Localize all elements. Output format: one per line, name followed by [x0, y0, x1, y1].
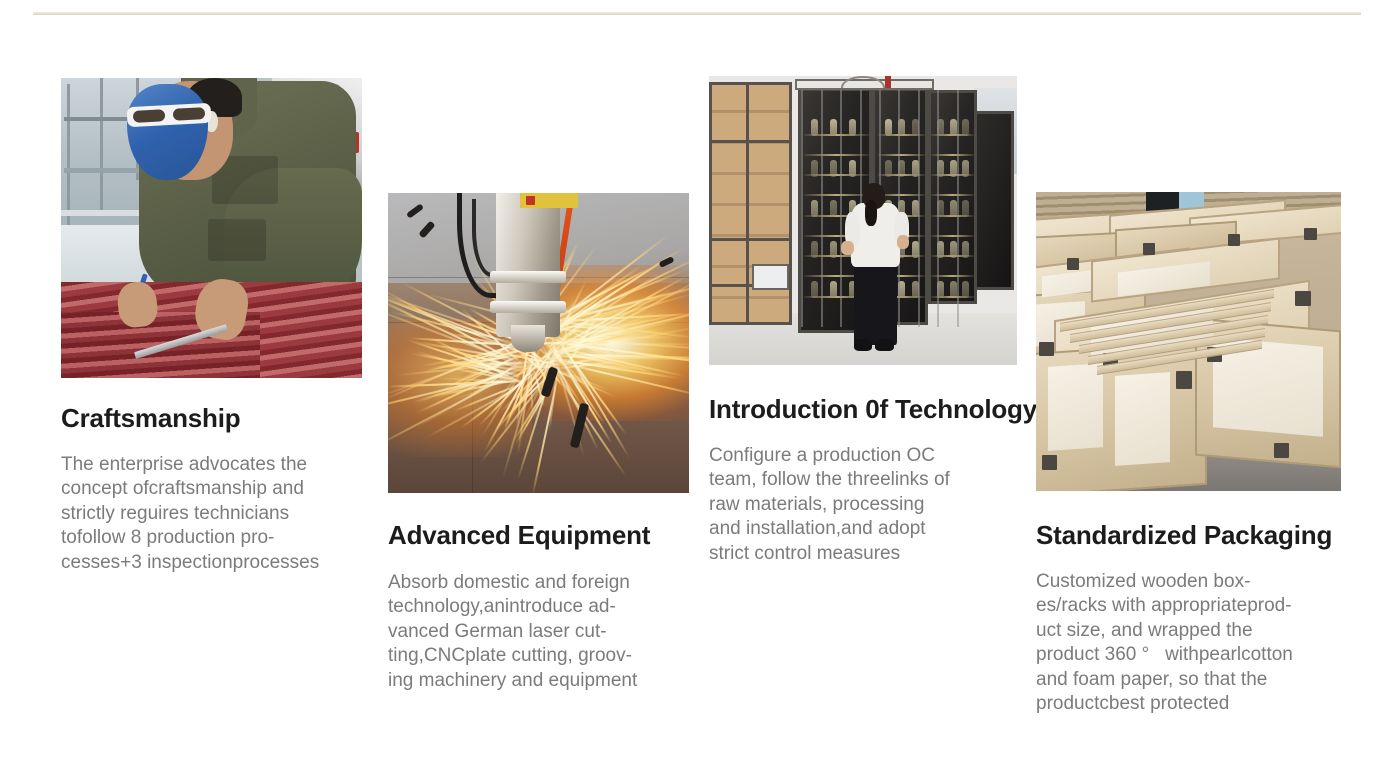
showroom-door-display-photo	[709, 76, 1017, 365]
feature-card-packaging: Standardized Packaging Customized wooden…	[1036, 192, 1346, 717]
card-title-packaging: Standardized Packaging	[1036, 521, 1346, 551]
card-body-packaging: Customized wooden box-es/racks with appr…	[1036, 570, 1346, 717]
card-title-equipment: Advanced Equipment	[388, 521, 689, 551]
feature-card-craftsmanship: Craftsmanship The enterprise advocates t…	[61, 78, 362, 575]
card-body-equipment: Absorb domestic and foreigntechnology,an…	[388, 571, 688, 694]
card-body-craftsmanship: The enterprise advocates theconcept ofcr…	[61, 453, 361, 576]
body-line: concept ofcraftsmanship and	[61, 477, 361, 502]
feature-card-technology: Introduction 0f Technology Configure a p…	[709, 76, 1037, 566]
body-line: Customized wooden box-	[1036, 570, 1346, 595]
body-line: es/racks with appropriateprod-	[1036, 594, 1346, 619]
card-body-technology: Configure a production OCteam, follow th…	[709, 444, 1009, 567]
body-line: product 360 ° withpearlcotton	[1036, 643, 1346, 668]
card-title-technology: Introduction 0f Technology	[709, 395, 1037, 425]
body-line: and installation,and adopt	[709, 517, 1009, 542]
feature-card-equipment: Advanced Equipment Absorb domestic and f…	[388, 193, 689, 693]
worker-marking-metal-sheet-photo	[61, 78, 362, 378]
body-line: cesses+3 inspectionprocesses	[61, 551, 361, 576]
body-line: The enterprise advocates the	[61, 453, 361, 478]
body-line: tofollow 8 production pro-	[61, 526, 361, 551]
body-line: team, follow the threelinks of	[709, 468, 1009, 493]
header-divider-rule	[33, 12, 1361, 15]
body-line: uct size, and wrapped the	[1036, 619, 1346, 644]
body-line: ting,CNCplate cutting, groov-	[388, 644, 688, 669]
body-line: ing machinery and equipment	[388, 669, 688, 694]
body-line: strict control measures	[709, 542, 1009, 567]
body-line: strictly reguires technicians	[61, 502, 361, 527]
body-line: and foam paper, so that the	[1036, 668, 1346, 693]
body-line: raw materials, processing	[709, 493, 1009, 518]
body-line: Configure a production OC	[709, 444, 1009, 469]
body-line: vanced German laser cut-	[388, 620, 688, 645]
body-line: productcbest protected	[1036, 692, 1346, 717]
body-line: technology,anintroduce ad-	[388, 595, 688, 620]
card-title-craftsmanship: Craftsmanship	[61, 404, 362, 434]
wooden-crates-warehouse-photo	[1036, 192, 1341, 491]
laser-cutting-sparks-photo	[388, 193, 689, 493]
body-line: Absorb domestic and foreign	[388, 571, 688, 596]
